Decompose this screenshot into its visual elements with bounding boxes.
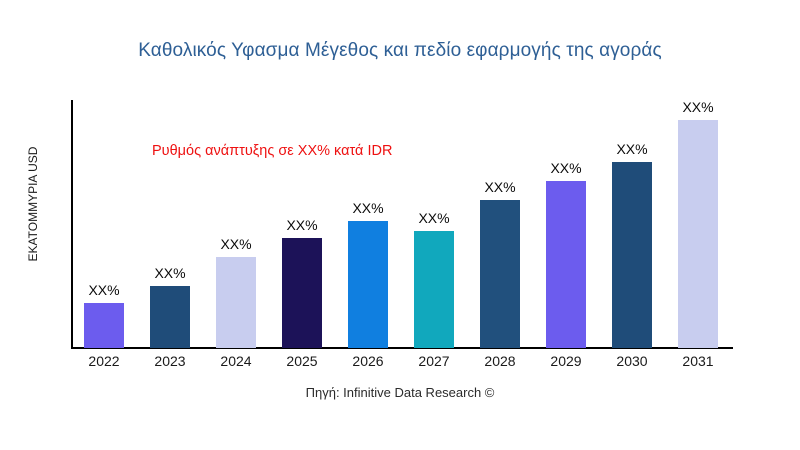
bar-2027 (414, 231, 454, 348)
bar-group-2028: XX% (467, 100, 533, 348)
source-caption: Πηγή: Infinitive Data Research © (0, 385, 800, 400)
x-tick-2026: 2026 (335, 353, 401, 369)
bar-2025 (282, 238, 322, 348)
bar-2024 (216, 257, 256, 348)
bar-value-label-2024: XX% (203, 236, 269, 252)
x-tick-2025: 2025 (269, 353, 335, 369)
bar-value-label-2029: XX% (533, 160, 599, 176)
x-tick-2030: 2030 (599, 353, 665, 369)
bar-group-2031: XX% (665, 100, 731, 348)
bar-2022 (84, 303, 124, 348)
x-tick-2028: 2028 (467, 353, 533, 369)
x-tick-2031: 2031 (665, 353, 731, 369)
bar-group-2026: XX% (335, 100, 401, 348)
bar-group-2024: XX% (203, 100, 269, 348)
bar-group-2022: XX% (71, 100, 137, 348)
x-tick-2024: 2024 (203, 353, 269, 369)
bar-2023 (150, 286, 190, 348)
y-axis-label: ΕΚΑΤΟΜΜΥΡΙΑ USD (26, 104, 40, 304)
bar-value-label-2025: XX% (269, 217, 335, 233)
bar-2026 (348, 221, 388, 348)
bar-value-label-2027: XX% (401, 210, 467, 226)
bar-value-label-2031: XX% (665, 99, 731, 115)
chart-title: Καθολικός Υφασμα Μέγεθος και πεδίο εφαρμ… (0, 40, 800, 62)
bar-2029 (546, 181, 586, 348)
bar-value-label-2030: XX% (599, 141, 665, 157)
x-tick-2027: 2027 (401, 353, 467, 369)
bar-value-label-2028: XX% (467, 179, 533, 195)
bar-group-2027: XX% (401, 100, 467, 348)
bar-group-2029: XX% (533, 100, 599, 348)
bar-value-label-2023: XX% (137, 265, 203, 281)
chart-container: Καθολικός Υφασμα Μέγεθος και πεδίο εφαρμ… (0, 0, 800, 450)
bar-value-label-2022: XX% (71, 282, 137, 298)
bar-2031 (678, 120, 718, 348)
bar-2028 (480, 200, 520, 348)
plot-area: XX%XX%XX%XX%XX%XX%XX%XX%XX%XX% (71, 100, 783, 349)
bar-group-2025: XX% (269, 100, 335, 348)
bar-value-label-2026: XX% (335, 200, 401, 216)
x-tick-2023: 2023 (137, 353, 203, 369)
bar-2030 (612, 162, 652, 348)
x-tick-2022: 2022 (71, 353, 137, 369)
x-tick-2029: 2029 (533, 353, 599, 369)
growth-rate-annotation: Ρυθμός ανάπτυξης σε XX% κατά IDR (152, 143, 392, 159)
bar-group-2023: XX% (137, 100, 203, 348)
bar-group-2030: XX% (599, 100, 665, 348)
